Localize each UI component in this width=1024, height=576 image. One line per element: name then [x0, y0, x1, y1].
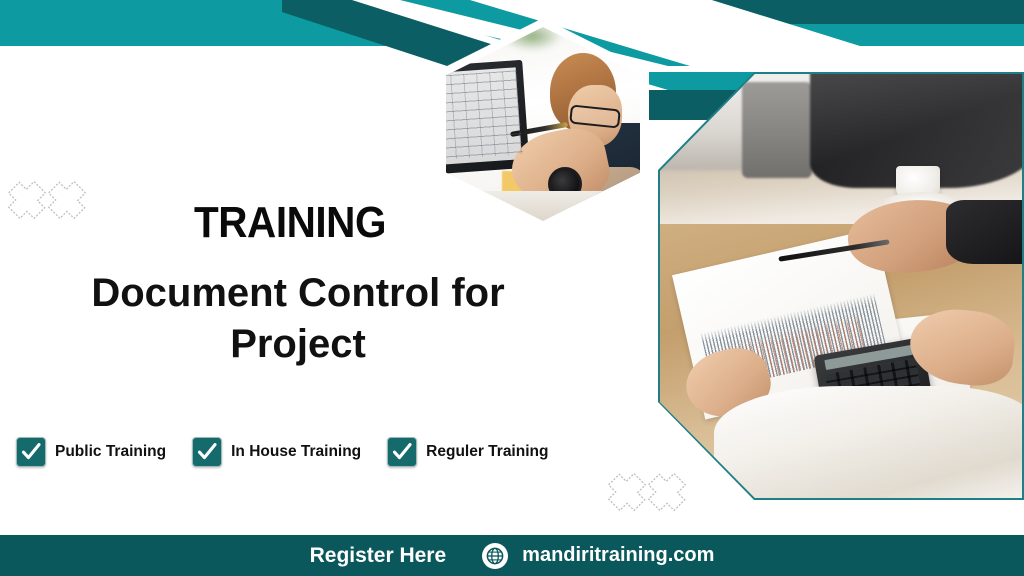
- checkbox-checked[interactable]: [387, 437, 417, 467]
- option-label: Public Training: [55, 443, 166, 461]
- x-mark-decoration-bottom: [608, 472, 686, 512]
- page-title-line-2: Project: [28, 319, 568, 370]
- eyebrow-title: TRAINING: [23, 198, 557, 248]
- option-label: In House Training: [231, 443, 361, 461]
- checkmark-icon: [20, 441, 42, 463]
- checkbox-checked[interactable]: [16, 437, 46, 467]
- website-link[interactable]: mandiritraining.com: [482, 543, 714, 569]
- checkmark-icon: [391, 441, 413, 463]
- x-mark-icon: [608, 472, 646, 512]
- website-url: mandiritraining.com: [522, 544, 714, 567]
- option-public-training[interactable]: Public Training: [16, 437, 166, 467]
- training-poster: TRAINING Document Control for Project Pu…: [0, 0, 1024, 576]
- option-in-house-training[interactable]: In House Training: [192, 437, 361, 467]
- footer-bar: Register Here mandiritraining.com: [0, 535, 1024, 576]
- meeting-photo: [660, 74, 1022, 498]
- globe-glyph: [485, 546, 505, 566]
- page-title-line-1: Document Control for: [28, 268, 568, 319]
- checkbox-checked[interactable]: [192, 437, 222, 467]
- meeting-photo-panel: [658, 72, 1024, 500]
- register-here-label[interactable]: Register Here: [310, 544, 447, 568]
- meeting-photo-light-haze: [660, 74, 1022, 498]
- globe-icon: [482, 543, 508, 569]
- hexagon-photo-screen-content: [446, 70, 523, 159]
- page-title: Document Control for Project: [28, 268, 568, 370]
- x-mark-icon: [648, 472, 686, 512]
- training-type-options: Public Training In House Training Regule…: [16, 437, 548, 467]
- option-reguler-training[interactable]: Reguler Training: [387, 437, 548, 467]
- checkmark-icon: [196, 441, 218, 463]
- option-label: Reguler Training: [426, 443, 548, 461]
